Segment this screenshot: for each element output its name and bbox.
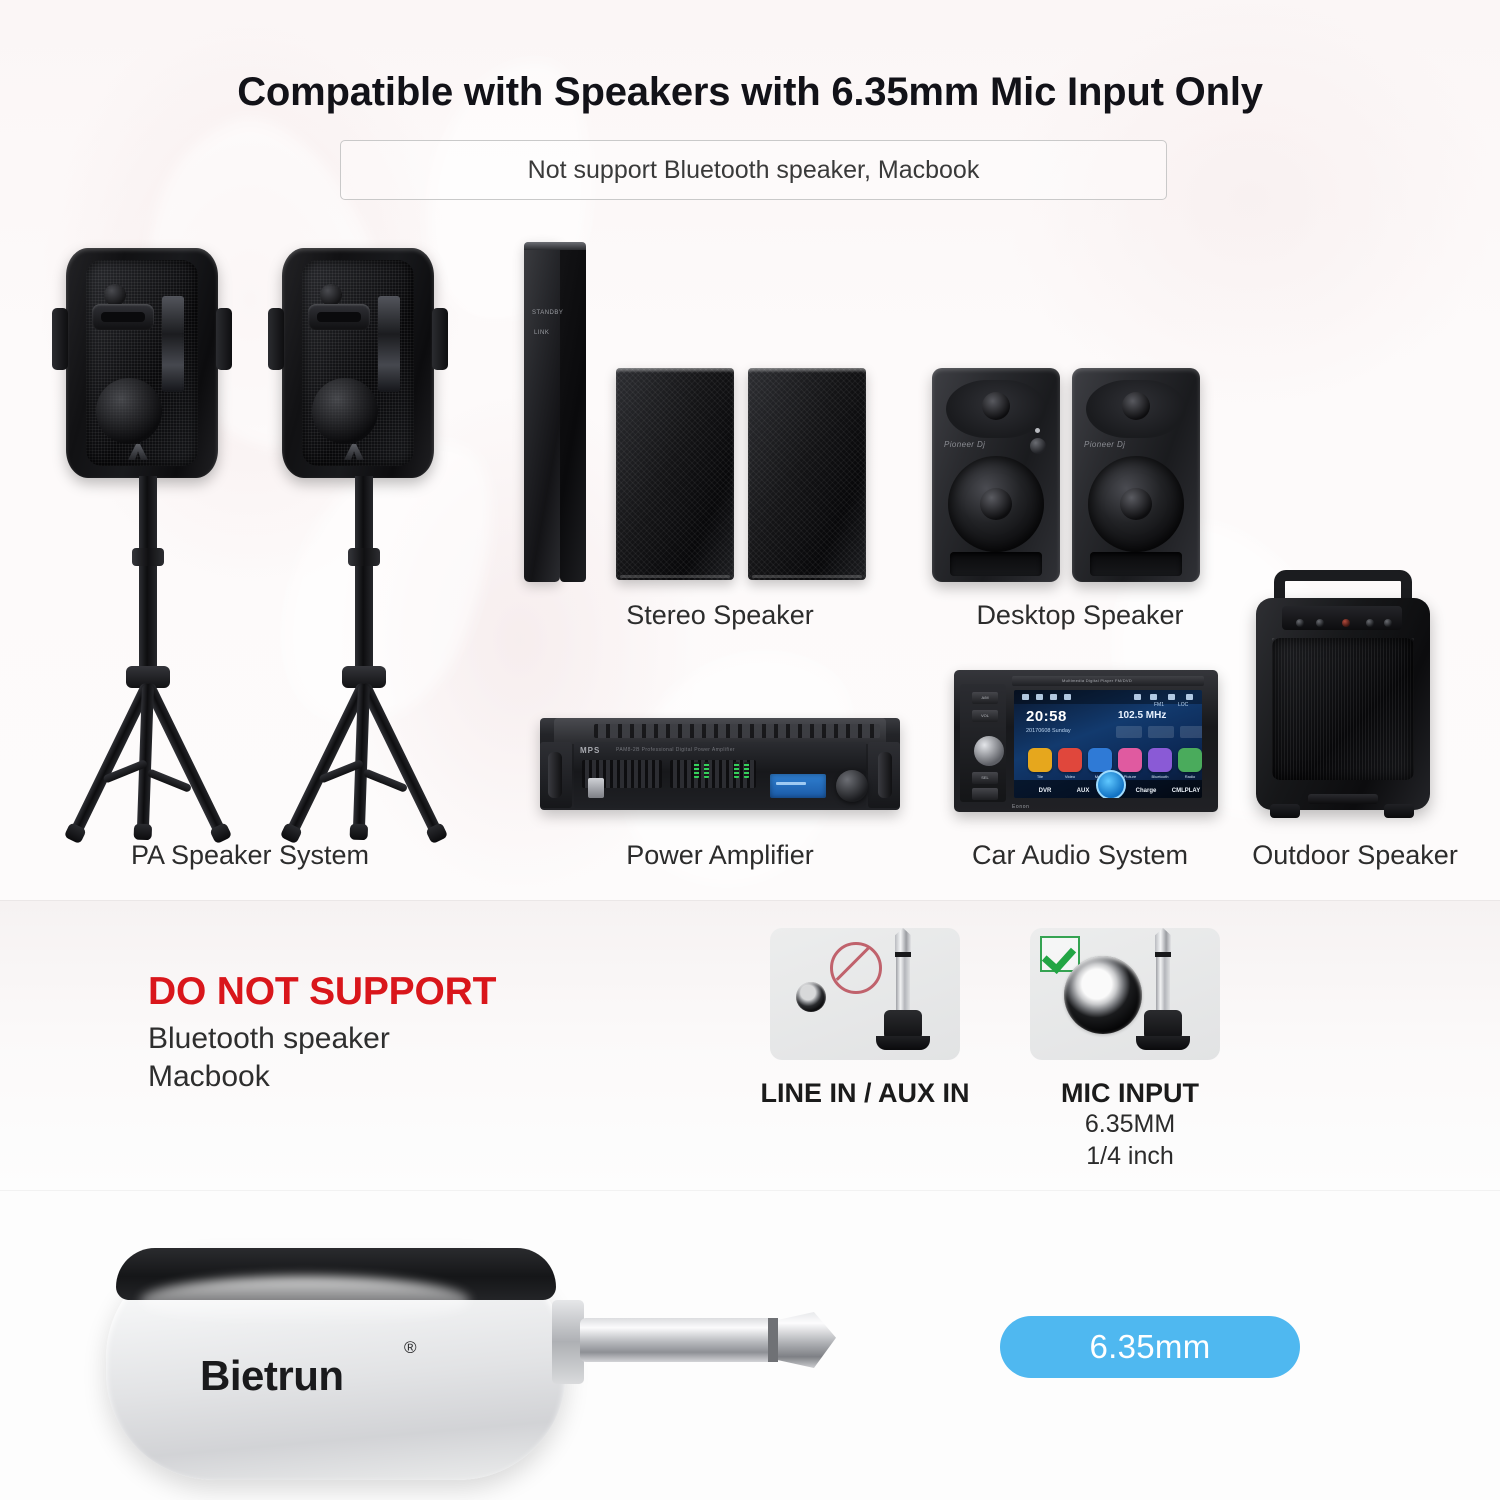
size-badge: 6.35mm [1000, 1316, 1300, 1378]
pa-side-handle [52, 308, 68, 370]
car-button-charge[interactable]: Charge [1126, 788, 1166, 794]
amp-vents [594, 724, 880, 738]
car-button-sel-label: SEL [972, 775, 998, 780]
pa-woofer [312, 378, 378, 444]
amp-handle-right[interactable] [878, 752, 892, 798]
wifi-icon [1150, 694, 1157, 700]
prohibition-icon [830, 942, 882, 994]
power-led [1035, 428, 1040, 433]
outdoor-knob[interactable] [1316, 619, 1324, 627]
car-control-column: A/M VOL SEL [960, 684, 1006, 802]
monitor-brand: Pioneer Dj [944, 440, 985, 449]
car-app-radio-label: Radio [1178, 774, 1202, 779]
car-frequency: 102.5 MHz [1118, 710, 1166, 721]
bluetooth-icon [1050, 694, 1057, 700]
car-app-video-label: Video [1058, 774, 1082, 779]
car-model-strip: Multimedia Digital Player FM/DVD [1062, 678, 1132, 683]
car-search-button[interactable] [1148, 726, 1174, 738]
infographic-page: Compatible with Speakers with 6.35mm Mic… [0, 0, 1500, 1500]
level-meter [704, 762, 709, 778]
mic-input-size-inch: 1/4 inch [1000, 1142, 1260, 1171]
stereo-bookshelf-right [748, 368, 866, 580]
line-in-panel [770, 928, 960, 1060]
desktop-monitor-right: Pioneer Dj [1072, 368, 1200, 582]
mic-socket [1064, 956, 1142, 1034]
car-button-vol-label: VOL [972, 713, 998, 718]
receiver-plug-ring [768, 1318, 778, 1362]
do-not-support-title: DO NOT SUPPORT [148, 970, 496, 1014]
label-stereo-speaker: Stereo Speaker [560, 600, 880, 631]
amp-front-panel: MPS PAM8-2B Professional Digital Power A… [574, 742, 866, 808]
amp-master-knob[interactable] [836, 770, 868, 802]
car-brand: Eonon [1012, 804, 1029, 810]
pa-cabinet [282, 248, 434, 478]
receiver-plug-shaft [580, 1318, 780, 1362]
amp-handle-left[interactable] [548, 752, 562, 798]
pa-cabinet [66, 248, 218, 478]
check-icon [1040, 936, 1080, 972]
volume-icon [1064, 694, 1071, 700]
pa-side-handle [216, 308, 232, 370]
car-app-video[interactable] [1058, 748, 1082, 772]
car-button-dvr[interactable]: DVR [1028, 788, 1062, 794]
outdoor-foot [1270, 804, 1300, 818]
car-home-button[interactable] [1096, 770, 1126, 798]
label-desktop-speaker: Desktop Speaker [920, 600, 1240, 631]
mic-input-size-mm: 6.35MM [1000, 1110, 1260, 1139]
outdoor-knob[interactable] [1296, 619, 1304, 627]
page-title: Compatible with Speakers with 6.35mm Mic… [0, 70, 1500, 115]
size-badge-label: 6.35mm [1089, 1328, 1210, 1366]
power-switch[interactable] [588, 778, 604, 798]
car-next-button[interactable] [1180, 726, 1202, 738]
car-app-tile[interactable] [1028, 748, 1052, 772]
bass-port [950, 552, 1042, 576]
car-status-bar [1014, 690, 1202, 704]
level-meter [734, 762, 739, 778]
car-clock: 20:58 [1026, 708, 1067, 725]
home-icon [1022, 694, 1029, 700]
label-power-amplifier: Power Amplifier [560, 840, 880, 871]
plug-635-illustration [888, 928, 918, 1060]
level-meter [744, 762, 749, 778]
pa-stand-pole [139, 476, 157, 676]
amp-model: PAM8-2B Professional Digital Power Ampli… [616, 747, 735, 753]
apps-icon [1036, 694, 1043, 700]
car-app-picture[interactable] [1118, 748, 1142, 772]
stereo-tower [524, 242, 560, 582]
volume-knob[interactable] [1030, 438, 1046, 454]
pa-speaker-right [274, 248, 454, 848]
receiver-gloss [140, 1276, 470, 1326]
trademark-icon: ® [404, 1338, 417, 1358]
tripod-leg [359, 681, 443, 837]
pa-stand-collar [132, 548, 164, 566]
car-button-back[interactable] [972, 788, 998, 800]
pa-speaker-left [58, 248, 238, 848]
section-divider [0, 1190, 1500, 1191]
plug-tip [895, 928, 911, 952]
monitor-brand: Pioneer Dj [1084, 440, 1125, 449]
plug-flange [1136, 1036, 1190, 1050]
pa-tweeter [320, 284, 342, 306]
plug-tip [1155, 928, 1171, 952]
stereo-tower-cap [524, 242, 586, 250]
pa-side-handle [268, 308, 284, 370]
label-car-audio-system: Car Audio System [920, 840, 1240, 871]
amp-brand: MPS [580, 746, 600, 755]
car-app-bluetooth[interactable] [1148, 748, 1172, 772]
desktop-monitor-left: Pioneer Dj [932, 368, 1060, 582]
outdoor-bottom-bar [1308, 794, 1378, 804]
mic-input-panel [1030, 928, 1220, 1060]
car-band-fm: FM1 [1154, 702, 1164, 708]
car-touchscreen[interactable]: 20:58 20170608 Sunday FM1 LOC 102.5 MHz … [1014, 690, 1202, 798]
pa-woofer [96, 378, 162, 444]
note-box: Not support Bluetooth speaker, Macbook [340, 140, 1167, 200]
aux-socket [796, 982, 826, 1012]
level-meter [694, 762, 699, 778]
car-app-tile-label: Tile [1028, 774, 1052, 779]
pa-side-handle [432, 308, 448, 370]
power-amplifier: MPS PAM8-2B Professional Digital Power A… [540, 718, 900, 810]
plug-635-illustration [1148, 928, 1178, 1060]
car-band-loc: LOC [1178, 702, 1188, 708]
battery-icon [1168, 694, 1175, 700]
note-text: Not support Bluetooth speaker, Macbook [528, 156, 980, 185]
car-app-radio[interactable] [1178, 748, 1202, 772]
car-app-bluetooth-label: Bluetooth [1148, 774, 1172, 779]
car-app-music[interactable] [1088, 748, 1112, 772]
line-in-label: LINE IN / AUX IN [700, 1078, 1030, 1109]
car-button-cmlplay[interactable]: CMLPLAY [1166, 788, 1202, 794]
do-not-support-line1: Bluetooth speaker [148, 1022, 390, 1056]
car-top-strip: Multimedia Digital Player FM/DVD [1012, 676, 1204, 686]
tweeter [1122, 392, 1150, 420]
stereo-link-label: LINK [534, 330, 549, 336]
section-divider [0, 900, 1500, 901]
car-button-aux[interactable]: AUX [1066, 788, 1100, 794]
outdoor-knob[interactable] [1384, 619, 1392, 627]
outdoor-speaker [1256, 598, 1430, 810]
amp-lcd-display [770, 774, 826, 798]
outdoor-knob[interactable] [1366, 619, 1374, 627]
pa-tweeter [104, 284, 126, 306]
label-outdoor-speaker: Outdoor Speaker [1240, 840, 1470, 871]
outdoor-control-panel[interactable] [1282, 606, 1402, 630]
check-glyph [1042, 939, 1076, 974]
stereo-standby-label: STANDBY [532, 310, 563, 316]
car-date: 20170608 Sunday [1026, 728, 1071, 734]
car-audio-head-unit: Multimedia Digital Player FM/DVD A/M VOL… [954, 670, 1218, 812]
car-button-am-label: A/M [972, 695, 998, 700]
pa-handle [92, 304, 154, 330]
car-volume-knob[interactable] [974, 736, 1004, 766]
tripod-leg [143, 681, 227, 837]
tweeter [982, 392, 1010, 420]
car-prev-button[interactable] [1116, 726, 1142, 738]
pa-badge [162, 296, 184, 392]
dust-cap [1120, 488, 1152, 520]
plug-shaft [896, 957, 910, 1013]
pa-stand-collar [348, 548, 380, 566]
do-not-support-line2: Macbook [148, 1060, 270, 1094]
stereo-tower-side [560, 246, 586, 582]
outdoor-bevel [1272, 638, 1414, 780]
dust-cap [980, 488, 1012, 520]
pa-stand-pole [355, 476, 373, 676]
back-icon [1186, 694, 1193, 700]
outdoor-foot [1384, 804, 1414, 818]
pa-handle [308, 304, 370, 330]
outdoor-led [1342, 619, 1350, 627]
amp-top-cover [554, 718, 886, 744]
gear-icon [1134, 694, 1141, 700]
bass-port [1090, 552, 1182, 576]
stereo-bookshelf-left [616, 368, 734, 580]
pa-badge [378, 296, 400, 392]
mic-input-label: MIC INPUT [1000, 1078, 1260, 1109]
plug-shaft [1156, 957, 1170, 1013]
label-pa-speaker-system: PA Speaker System [60, 840, 440, 871]
plug-flange [876, 1036, 930, 1050]
receiver-brand: Bietrun [200, 1352, 344, 1400]
